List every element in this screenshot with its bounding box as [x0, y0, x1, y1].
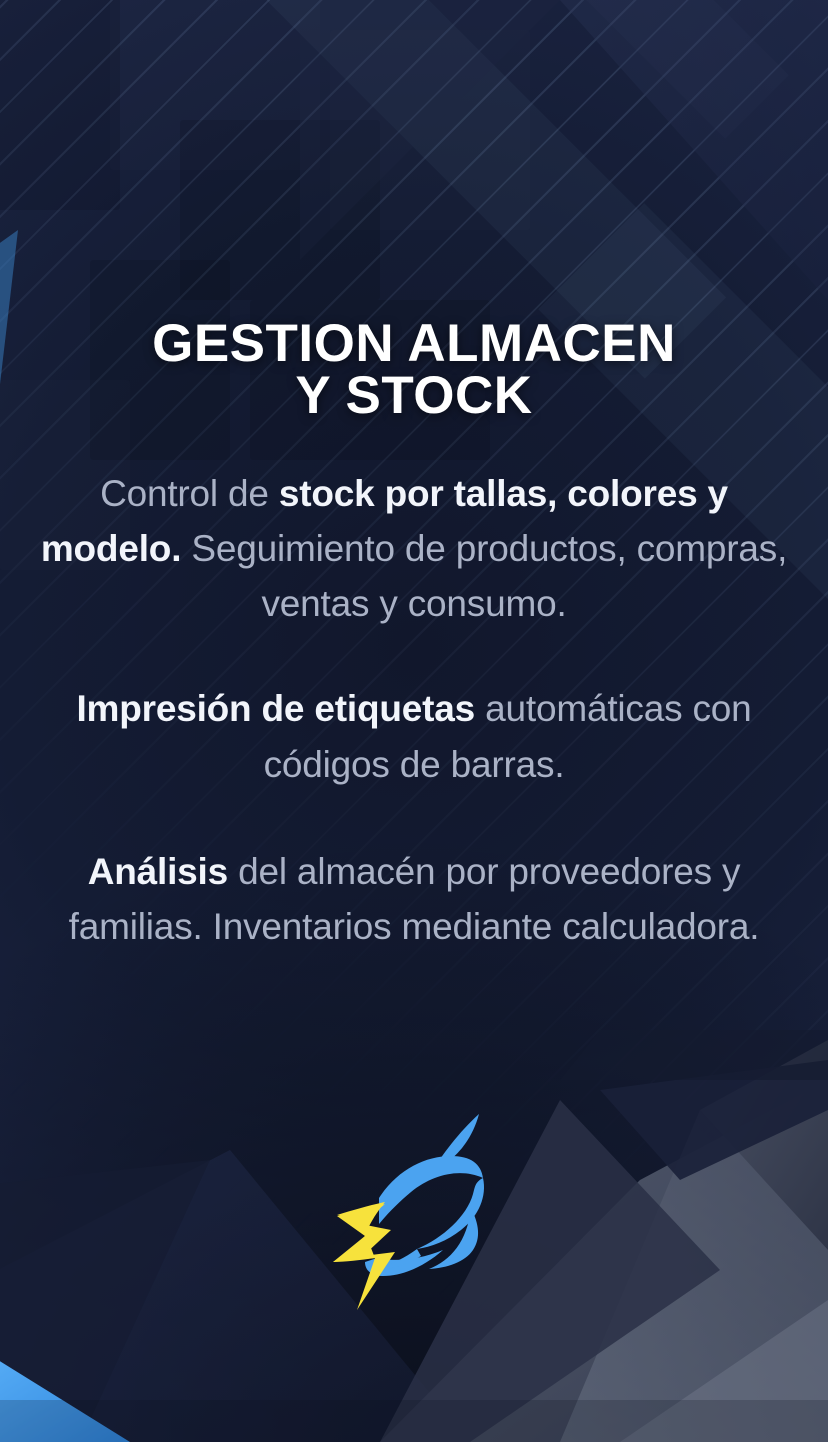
logo-blue-mark: [365, 1114, 484, 1276]
slide-canvas: GESTION ALMACEN Y STOCK Control de stock…: [0, 0, 828, 1442]
paragraph-label-printing: Impresión de etiquetas automáticas con c…: [40, 681, 788, 791]
title-line-1: GESTION ALMACEN: [152, 314, 676, 373]
paragraph-stock-control: Control de stock por tallas, colores y m…: [40, 466, 788, 631]
paragraph-analysis: Análisis del almacén por proveedores y f…: [40, 844, 788, 954]
brand-logo: [321, 1112, 507, 1312]
text-segment-emphasis: Impresión de etiquetas: [76, 688, 475, 729]
slide-content: GESTION ALMACEN Y STOCK Control de stock…: [0, 0, 828, 1442]
text-segment: Control de: [100, 473, 279, 514]
text-segment-emphasis: Análisis: [88, 851, 228, 892]
title-line-2: Y STOCK: [0, 370, 828, 422]
description-block: Control de stock por tallas, colores y m…: [40, 466, 788, 954]
logo-yellow-bolt: [333, 1202, 395, 1310]
text-segment: Seguimiento de productos, compras, venta…: [181, 528, 787, 624]
page-title: GESTION ALMACEN Y STOCK: [0, 318, 828, 422]
